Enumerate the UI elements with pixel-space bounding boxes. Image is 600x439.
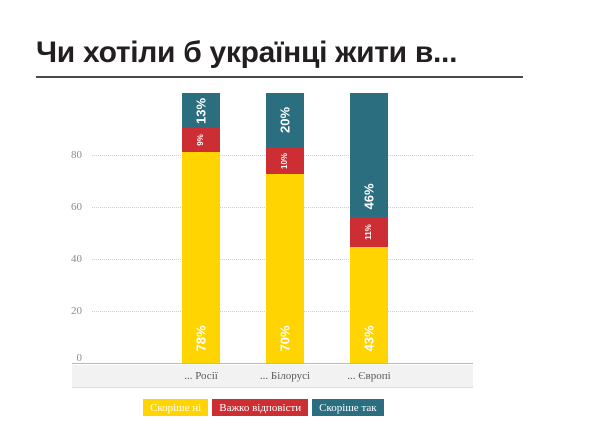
bar-segment-label: 78% xyxy=(195,325,208,351)
legend-label: Важко відповісти xyxy=(219,402,301,414)
x-axis-label-evropi: ... Європі xyxy=(314,370,424,382)
bar-segment-label: 70% xyxy=(279,325,292,351)
bar-segment-label: 11% xyxy=(365,224,373,240)
category-axis-rule xyxy=(72,387,473,388)
y-axis-tick-20: 20 xyxy=(42,305,82,317)
legend-item-skorishe-ni[interactable]: Скоріше ні xyxy=(143,399,208,416)
bar-segment-skorishe-tak[interactable]: 20% xyxy=(266,93,304,147)
bar-segment-label: 43% xyxy=(363,325,376,351)
bar-segment-skorishe-ni[interactable]: 78% xyxy=(182,152,220,363)
y-axis-tick-60: 60 xyxy=(42,201,82,213)
bar-segment-label: 9% xyxy=(197,134,205,146)
bar-segment-skorishe-tak[interactable]: 13% xyxy=(182,93,220,128)
bar-segment-vazhko-vidpovisty[interactable]: 11% xyxy=(350,217,388,247)
bar-column-rosii[interactable]: 13% 9% 78% xyxy=(182,93,220,363)
bar-segment-skorishe-ni[interactable]: 70% xyxy=(266,174,304,363)
stacked-bar-chart: 80 60 40 20 0 13% 9% 78% 20% 10% 70% 46%… xyxy=(0,0,600,439)
bar-segment-label: 10% xyxy=(281,152,289,168)
y-axis-tick-0: 0 xyxy=(42,352,82,364)
chart-legend: Скоріше ні Важко відповісти Скоріше так xyxy=(143,399,384,416)
axis-baseline xyxy=(72,363,473,364)
bar-segment-vazhko-vidpovisty[interactable]: 9% xyxy=(182,128,220,152)
bar-segment-vazhko-vidpovisty[interactable]: 10% xyxy=(266,147,304,174)
bar-column-bilorusi[interactable]: 20% 10% 70% xyxy=(266,93,304,363)
bar-segment-label: 20% xyxy=(279,107,292,133)
legend-label: Скоріше так xyxy=(319,402,376,414)
legend-item-vazhko-vidpovisty[interactable]: Важко відповісти xyxy=(212,399,308,416)
legend-label: Скоріше ні xyxy=(150,402,201,414)
bar-segment-skorishe-tak[interactable]: 46% xyxy=(350,93,388,217)
y-axis-tick-80: 80 xyxy=(42,149,82,161)
bar-segment-label: 13% xyxy=(195,98,208,124)
legend-item-skorishe-tak[interactable]: Скоріше так xyxy=(312,399,383,416)
bar-segment-skorishe-ni[interactable]: 43% xyxy=(350,247,388,363)
bar-segment-label: 46% xyxy=(363,184,376,210)
bar-column-evropi[interactable]: 46% 11% 43% xyxy=(350,93,388,363)
y-axis-tick-40: 40 xyxy=(42,253,82,265)
